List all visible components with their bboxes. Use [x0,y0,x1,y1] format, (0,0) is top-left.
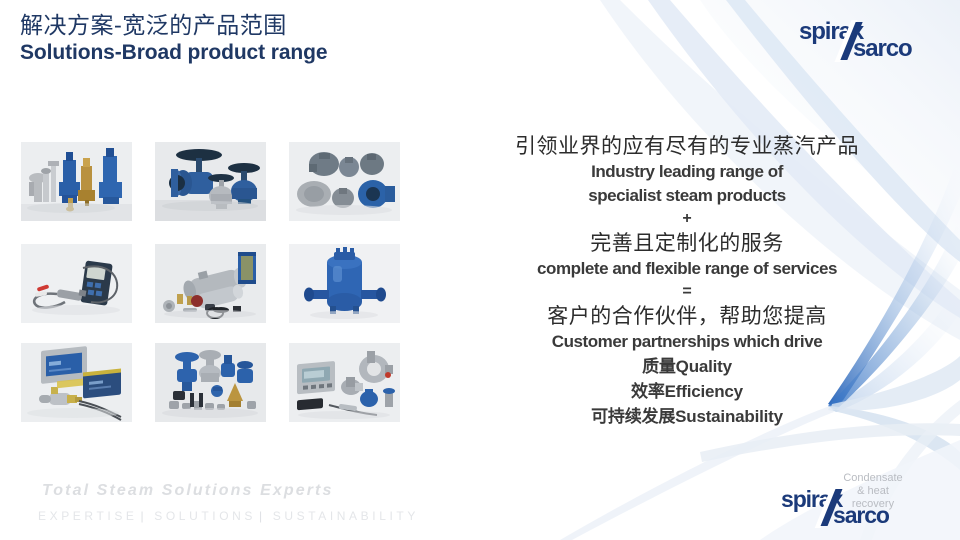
product-image-control-globe-valves [155,142,266,221]
message-line-9: Customer partnerships which drive [452,330,922,354]
message-block: 引领业界的应有尽有的专业蒸汽产品 Industry leading range … [452,132,922,429]
message-line-2: Industry leading range of [452,160,922,184]
message-line-8: 客户的合作伙伴，帮助您提高 [452,302,922,330]
page-title: 解决方案-宽泛的产品范围 Solutions-Broad product ran… [20,14,327,64]
message-operator-plus: + [452,208,922,229]
footer-separator-2: | [256,509,273,523]
message-line-6: complete and flexible range of services [452,257,922,281]
product-image-deaerator-vessel [289,244,400,323]
page-title-chinese: 解决方案-宽泛的产品范围 [20,14,327,40]
message-line-sustainability: 可持续发展Sustainability [452,404,922,429]
slide-canvas: 解决方案-宽泛的产品范围 Solutions-Broad product ran… [0,0,960,540]
product-image-flow-metering-controllers [289,343,400,422]
footer-pillars: EXPERTISE|SOLUTIONS|SUSTAINABILITY [38,509,419,523]
footer-separator-1: | [138,509,155,523]
product-image-safety-relief-valves [21,142,132,221]
message-line-3: specialist steam products [452,184,922,208]
spirax-sarco-logo-footer: spirax sarco [778,486,928,530]
product-image-grid [21,142,403,430]
message-line-quality: 质量Quality [452,354,922,379]
page-title-english: Solutions-Broad product range [20,41,327,65]
footer-pillar-sustainability: SUSTAINABILITY [273,509,419,523]
message-line-efficiency: 效率Efficiency [452,379,922,404]
product-image-control-panels-sensors [21,343,132,422]
footer-pillar-expertise: EXPERTISE [38,509,138,523]
logo-word-sarco: sarco [853,35,912,63]
message-line-1: 引领业界的应有尽有的专业蒸汽产品 [452,132,922,160]
message-operator-equals: = [452,281,922,302]
footer-tagline: Total Steam Solutions Experts [42,482,333,500]
logo-footer-word-sarco: sarco [833,502,889,529]
spirax-sarco-logo: spirax sarco [796,18,948,64]
product-image-steam-traps [289,142,400,221]
product-image-pressure-control-assortment [155,343,266,422]
product-image-portable-test-instrument [21,244,132,323]
footer-pillar-solutions: SOLUTIONS [154,509,256,523]
message-line-5: 完善且定制化的服务 [452,229,922,257]
watermark-line-1: Condensate [818,472,928,485]
product-image-heat-exchangers-packages [155,244,266,323]
